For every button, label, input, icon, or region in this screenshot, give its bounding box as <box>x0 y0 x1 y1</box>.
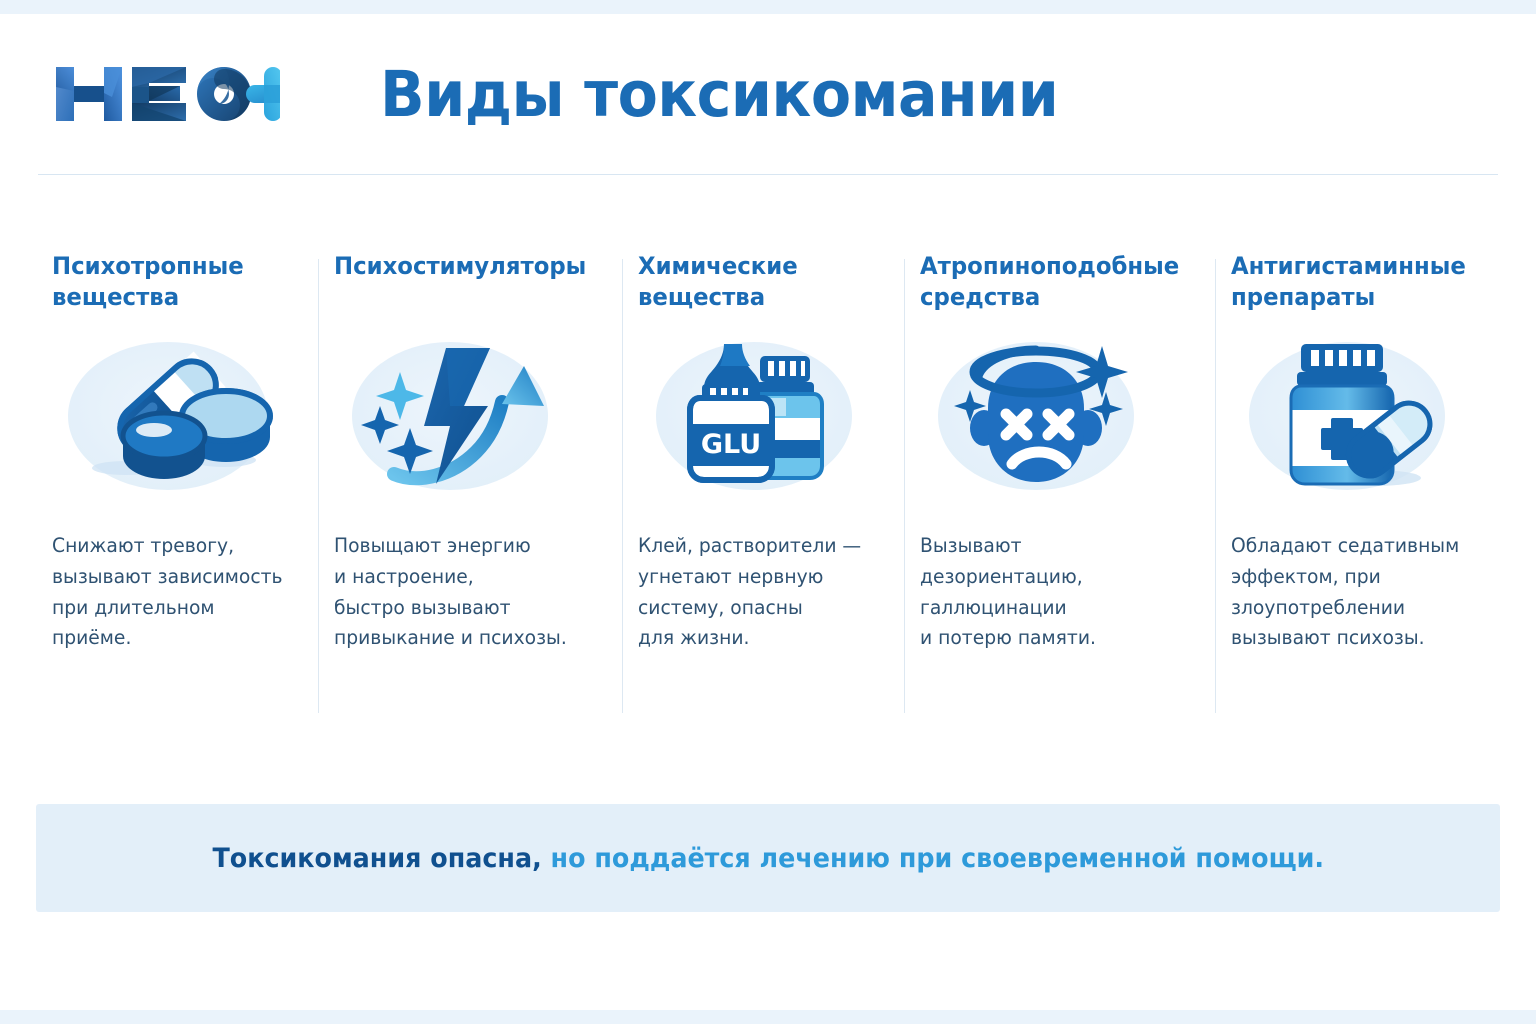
glue-bottles-icon: GLU <box>638 331 882 501</box>
bottom-edge-strip <box>0 1010 1536 1024</box>
category-column-stimulants[interactable]: Психостимуляторы <box>318 251 622 717</box>
column-title: Антигистаминные препараты <box>1231 251 1466 317</box>
header: Виды токсикомании <box>36 14 1500 174</box>
column-description: Повыщают энергию и настроение, быстро вы… <box>334 531 589 654</box>
infographic-page: Виды токсикомании Психотропные вещества <box>0 14 1536 1010</box>
banner-accent-text: но поддаётся лечению при своевременной п… <box>541 843 1323 874</box>
header-divider <box>38 174 1498 175</box>
column-title: Химические вещества <box>638 251 870 317</box>
pills-icon <box>52 331 296 501</box>
dizzy-face-icon <box>920 331 1193 501</box>
column-description: Вызывают дезориентацию, галлюцинации и п… <box>920 531 1182 654</box>
column-title: Психостимуляторы <box>334 251 586 317</box>
top-edge-strip <box>0 0 1536 14</box>
banner-strong-text: Токсикомания опасна, <box>212 843 541 874</box>
category-column-atropine[interactable]: Атропиноподобные средства <box>904 251 1215 717</box>
category-column-chemicals[interactable]: Химические вещества <box>622 251 904 717</box>
footer-banner-text: Токсикомания опасна, но поддаётся лечени… <box>212 843 1324 874</box>
column-title: Атропиноподобные средства <box>920 251 1179 317</box>
pill-bottle-icon <box>1231 331 1478 501</box>
category-column-antihistamines[interactable]: Антигистаминные препараты <box>1215 251 1500 717</box>
column-description: Обладают седативным эффектом, при злоупо… <box>1231 531 1468 654</box>
footer-banner: Токсикомания опасна, но поддаётся лечени… <box>36 804 1500 912</box>
column-title: Психотропные вещества <box>52 251 284 317</box>
glue-label: GLU <box>701 429 761 460</box>
category-columns: Психотропные вещества <box>36 251 1500 717</box>
page-title: Виды токсикомании <box>380 63 1058 126</box>
column-description: Снижают тревогу, вызывают зависимость пр… <box>52 531 286 654</box>
category-column-psychotropic[interactable]: Психотропные вещества <box>36 251 318 717</box>
lightning-bolt-icon <box>334 331 600 501</box>
neo-plus-logo <box>50 57 280 131</box>
column-description: Клей, растворители — угнетают нервную си… <box>638 531 872 654</box>
